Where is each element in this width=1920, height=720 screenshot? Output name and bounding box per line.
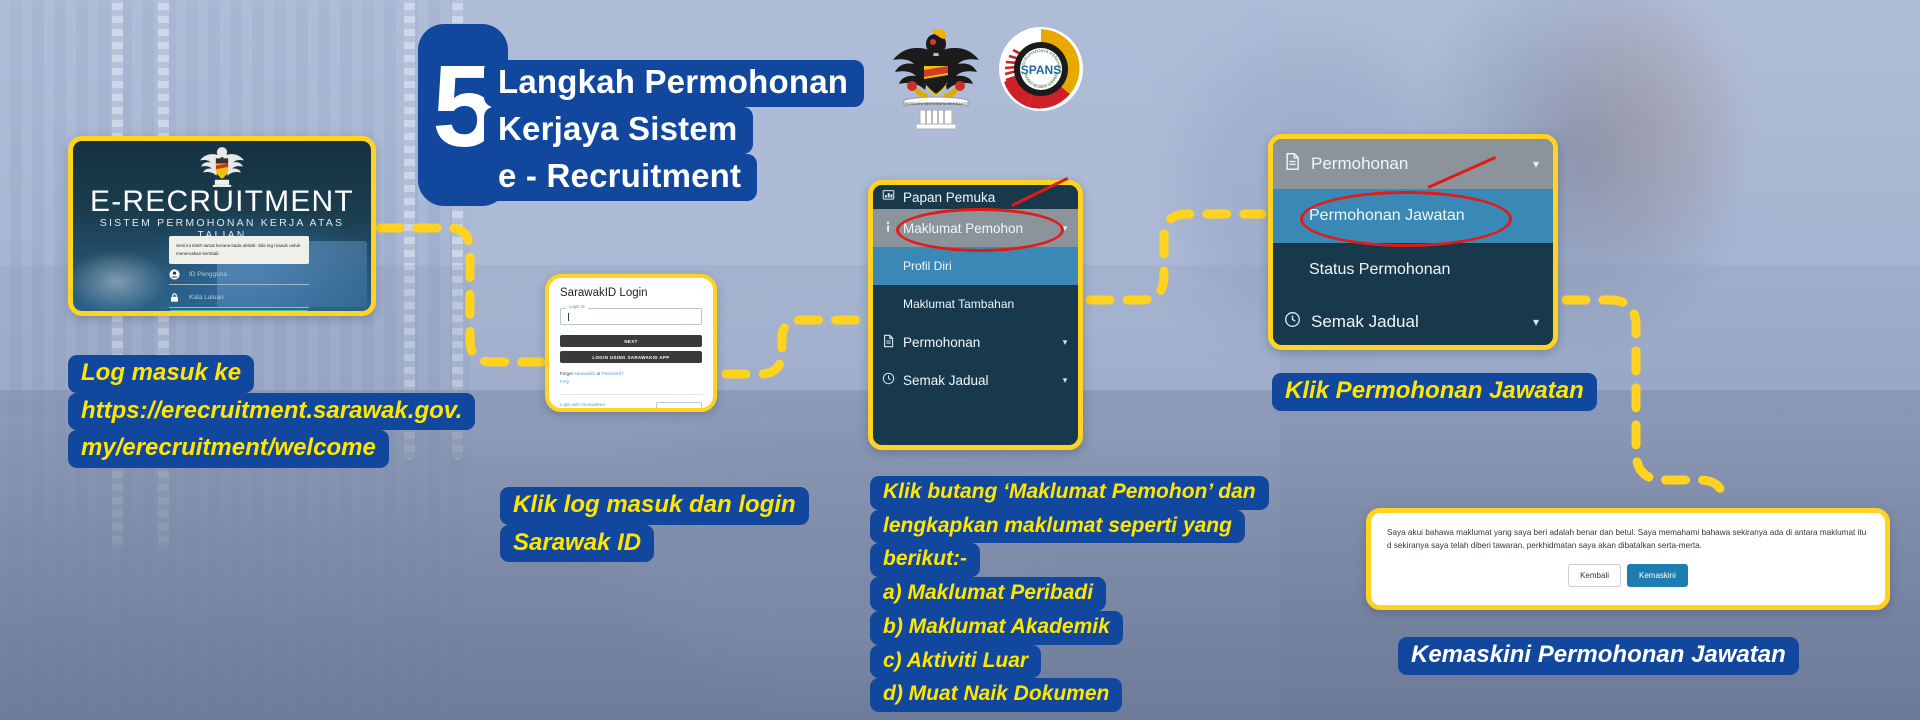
callout-line: Sarawak ID bbox=[500, 525, 654, 563]
forgot-line: Forgot SarawakID or Password? bbox=[560, 370, 702, 378]
session-expired-note: Sesi ini telah tamat kerana tiada aktivi… bbox=[169, 236, 309, 264]
user-id-field[interactable]: ID Pengguna bbox=[169, 265, 309, 285]
nav-item-permohonan[interactable]: Permohonan ▾ bbox=[873, 323, 1078, 361]
application-nav-menu[interactable]: Permohonan ▾ Permohonan Jawatan Status P… bbox=[1268, 134, 1558, 350]
callout-line: c) Aktiviti Luar bbox=[870, 645, 1041, 679]
forgot-prefix: Forgot bbox=[560, 371, 573, 376]
user-icon bbox=[169, 269, 180, 280]
nav-item-maklumat-tambahan[interactable]: Maklumat Tambahan bbox=[873, 285, 1078, 323]
callout-kemaskini-permohonan-jawatan: Kemaskini Permohonan Jawatan bbox=[1398, 637, 1799, 675]
forgot-join: or bbox=[597, 371, 601, 376]
nav-label: Profil Diri bbox=[903, 259, 1078, 273]
login-id-input[interactable] bbox=[560, 308, 702, 325]
title-line-3: e - Recruitment bbox=[484, 154, 757, 201]
callout-line: lengkapkan maklumat seperti yang bbox=[870, 510, 1245, 544]
nav-label: Permohonan Jawatan bbox=[1309, 207, 1553, 225]
kemaskini-button[interactable]: Kemaskini bbox=[1627, 564, 1688, 587]
info-icon bbox=[873, 220, 903, 237]
faq-link[interactable]: FAQ bbox=[560, 378, 702, 386]
sarawakid-title: SarawakID Login bbox=[560, 287, 702, 299]
divider bbox=[560, 394, 702, 395]
login-with-sarawaknet-link[interactable]: Login with SarawakNet bbox=[560, 401, 613, 410]
callout-line: Klik butang ‘Maklumat Pemohon’ dan bbox=[870, 476, 1269, 510]
chevron-down-icon: ▾ bbox=[1519, 157, 1553, 171]
sarawak-coat-of-arms-icon: BERSATU BERUSAHA BERBAKTI bbox=[888, 26, 984, 138]
callout-line: a) Maklumat Peribadi bbox=[870, 577, 1106, 611]
callout-line: Log masuk ke bbox=[68, 355, 254, 393]
nav-item-permohonan[interactable]: Permohonan ▾ bbox=[1273, 139, 1553, 189]
chevron-down-icon: ▾ bbox=[1052, 223, 1078, 234]
sarawakid-footer: Login with SarawakNet Don't have an acco… bbox=[560, 401, 702, 412]
callout-klik-permohonan-jawatan: Klik Permohonan Jawatan bbox=[1272, 373, 1597, 411]
applicant-nav-menu[interactable]: Papan Pemuka Maklumat Pemohon ▾ Profil D… bbox=[868, 180, 1083, 450]
callout-line: Kemaskini Permohonan Jawatan bbox=[1398, 637, 1799, 675]
password-field[interactable]: Kata Laluan bbox=[169, 288, 309, 308]
lock-icon bbox=[169, 292, 180, 303]
nav-label: Maklumat Tambahan bbox=[903, 297, 1078, 311]
no-account-text: Don't have an account yet? bbox=[560, 410, 613, 412]
infographic-canvas: 5 Langkah Permohonan Kerjaya Sistem e - … bbox=[0, 0, 1920, 720]
title-line-1: Langkah Permohonan bbox=[484, 60, 864, 107]
callout-line: b) Maklumat Akademik bbox=[870, 611, 1123, 645]
callout-klik-log-masuk: Klik log masuk dan login Sarawak ID bbox=[500, 487, 809, 562]
title-lines: Langkah Permohonan Kerjaya Sistem e - Re… bbox=[484, 60, 864, 201]
text-caret bbox=[568, 313, 569, 321]
erecruitment-photo-hand bbox=[73, 237, 183, 311]
login-using-sarawakid-app-button[interactable]: LOGIN USING SARAWAKID APP bbox=[560, 351, 702, 363]
login-id-fieldwrap[interactable]: Login ID bbox=[560, 308, 702, 325]
confirmation-text: Saya akui bahawa maklumat yang saya beri… bbox=[1371, 513, 1885, 552]
erecruitment-login-card[interactable]: E-RECRUITMENT SISTEM PERMOHONAN KERJA AT… bbox=[68, 136, 376, 316]
nav-label: Maklumat Pemohon bbox=[903, 221, 1052, 236]
confirmation-dialog[interactable]: Saya akui bahawa maklumat yang saya beri… bbox=[1366, 508, 1890, 610]
forgot-password-link[interactable]: Password? bbox=[602, 371, 624, 376]
sarawakid-links: Forgot SarawakID or Password? FAQ bbox=[560, 370, 702, 387]
document-icon bbox=[1273, 152, 1311, 176]
erecruitment-login-button[interactable]: Log Masuk bbox=[169, 310, 309, 316]
nav-item-semak-jadual[interactable]: Semak Jadual ▾ bbox=[1273, 297, 1553, 347]
login-id-legend: Login ID bbox=[566, 304, 588, 309]
nav-item-status-permohonan[interactable]: Status Permohonan bbox=[1273, 243, 1553, 297]
nav-label: Permohonan bbox=[903, 335, 1052, 350]
document-icon bbox=[873, 334, 903, 351]
register-now-button[interactable]: REGISTER NOW bbox=[656, 402, 702, 412]
callout-log-masuk: Log masuk ke https://erecruitment.sarawa… bbox=[68, 355, 475, 468]
nav-item-semak-jadual[interactable]: Semak Jadual ▾ bbox=[873, 361, 1078, 399]
password-placeholder: Kata Laluan bbox=[189, 294, 224, 301]
clock-icon bbox=[1273, 311, 1311, 333]
nav-item-maklumat-pemohon[interactable]: Maklumat Pemohon ▾ bbox=[873, 209, 1078, 247]
chevron-down-icon: ▾ bbox=[1519, 315, 1553, 329]
logo-group: BERSATU BERUSAHA BERBAKTI bbox=[888, 26, 1084, 138]
clock-icon bbox=[873, 372, 903, 388]
forgot-sarawakid-link[interactable]: SarawakID bbox=[574, 371, 595, 376]
callout-line: Klik Permohonan Jawatan bbox=[1272, 373, 1597, 411]
callout-line: https://erecruitment.sarawak.gov. bbox=[68, 393, 475, 431]
callout-line: Klik log masuk dan login bbox=[500, 487, 809, 525]
title-line-2: Kerjaya Sistem bbox=[484, 107, 753, 154]
next-button[interactable]: NEXT bbox=[560, 335, 702, 347]
svg-text:BERSATU BERUSAHA BERBAKTI: BERSATU BERUSAHA BERBAKTI bbox=[905, 101, 967, 106]
user-id-placeholder: ID Pengguna bbox=[189, 271, 227, 278]
callout-line: d) Muat Naik Dokumen bbox=[870, 678, 1122, 712]
callout-line: my/erecruitment/welcome bbox=[68, 430, 389, 468]
confirmation-actions: Kembali Kemaskini bbox=[1371, 564, 1885, 587]
nav-label: Permohonan bbox=[1311, 154, 1519, 174]
callout-line: berikut:- bbox=[870, 543, 980, 577]
page-title: 5 Langkah Permohonan Kerjaya Sistem e - … bbox=[418, 24, 864, 206]
chevron-down-icon: ▾ bbox=[1052, 375, 1078, 386]
nav-label: Status Permohonan bbox=[1309, 261, 1553, 279]
dashboard-icon bbox=[873, 189, 903, 205]
spans-logo-icon: SPANS SURUHANJAYA PERKHIDMATAN AWAM NEGE… bbox=[998, 26, 1084, 112]
kembali-button[interactable]: Kembali bbox=[1568, 564, 1621, 587]
nav-label: Semak Jadual bbox=[1311, 312, 1519, 332]
callout-maklumat-pemohon: Klik butang ‘Maklumat Pemohon’ dan lengk… bbox=[870, 476, 1269, 712]
nav-item-profil-diri[interactable]: Profil Diri bbox=[873, 247, 1078, 285]
chevron-down-icon: ▾ bbox=[1052, 337, 1078, 348]
sarawakid-login-card[interactable]: SarawakID Login Login ID NEXT LOGIN USIN… bbox=[545, 274, 717, 412]
erecruitment-title: E-RECRUITMENT bbox=[73, 185, 371, 219]
nav-item-permohonan-jawatan[interactable]: Permohonan Jawatan bbox=[1273, 189, 1553, 243]
nav-label: Semak Jadual bbox=[903, 373, 1052, 388]
